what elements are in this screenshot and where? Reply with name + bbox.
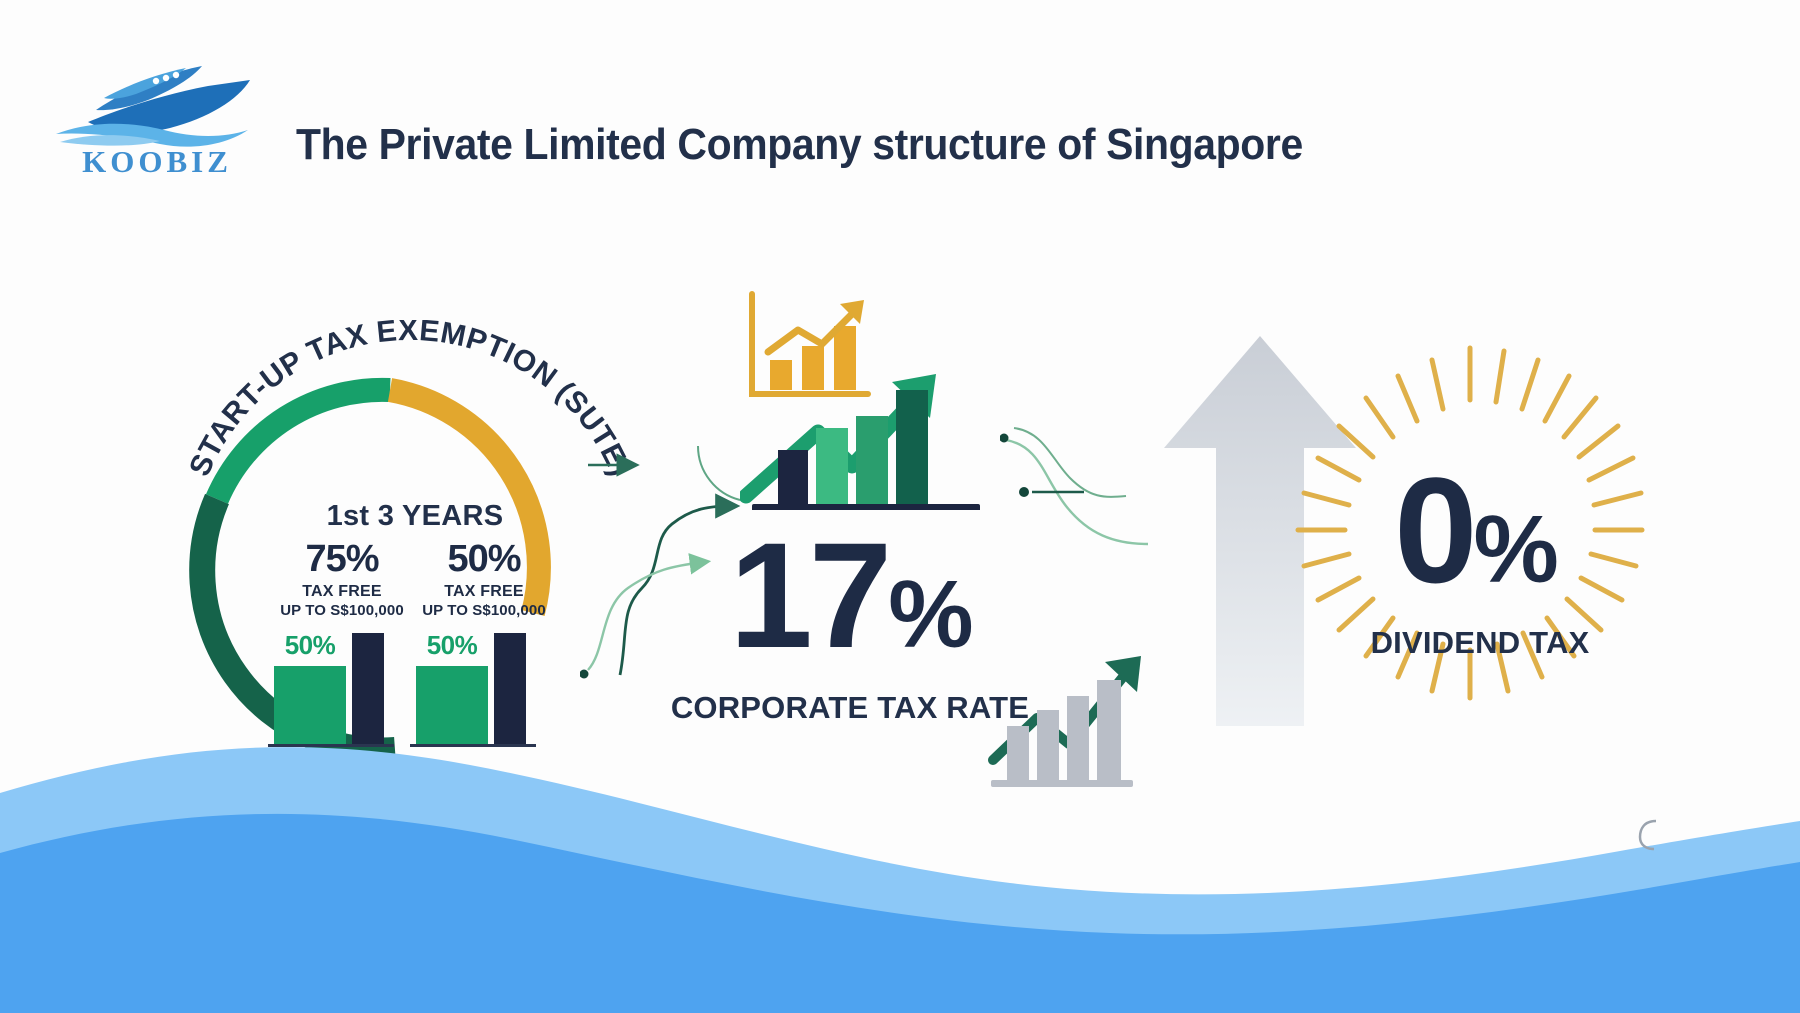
stray-mark-icon xyxy=(1630,815,1670,855)
growth-bar-chart-icon xyxy=(740,290,1040,510)
dividend-tax-number: 0 xyxy=(1394,446,1473,614)
center-bar-2 xyxy=(816,428,848,508)
infographic-canvas: KOOBIZ The Private Limited Company struc… xyxy=(0,0,1800,1013)
sute-tier-2-percent: 50% xyxy=(404,540,564,578)
center-bar-4 xyxy=(896,390,928,508)
dividend-tax-value: 0% xyxy=(1330,455,1620,605)
gold-chart-icon xyxy=(752,294,868,394)
dividend-tax-percent-sign: % xyxy=(1474,496,1556,603)
page-title: The Private Limited Company structure of… xyxy=(296,120,1303,170)
sute-tier-2-line1: TAX FREE xyxy=(404,583,564,601)
connector-right-path-2 xyxy=(1014,428,1126,497)
brand-name: KOOBIZ xyxy=(52,144,262,180)
center-chart-baseline xyxy=(752,504,980,510)
sute-tier-1-line1: TAX FREE xyxy=(262,583,422,601)
sute-tier-2: 50% TAX FREE UP TO S$100,000 xyxy=(404,540,564,619)
center-bar-3 xyxy=(856,416,888,508)
center-bar-1 xyxy=(778,450,808,508)
connector-dot-right-2 xyxy=(1019,487,1029,497)
yacht-ship-logo-icon xyxy=(52,52,262,148)
sute-years-label: 1st 3 YEARS xyxy=(250,500,580,533)
sute-tier-2-line2: UP TO S$100,000 xyxy=(404,602,564,619)
brand-logo: KOOBIZ xyxy=(52,52,262,182)
sute-tier-1: 75% TAX FREE UP TO S$100,000 xyxy=(262,540,422,619)
wave-decoration xyxy=(0,653,1800,1013)
corporate-tax-percent-sign: % xyxy=(888,561,970,668)
sute-tier-1-percent: 75% xyxy=(262,540,422,578)
sute-tier-1-line2: UP TO S$100,000 xyxy=(262,602,422,619)
